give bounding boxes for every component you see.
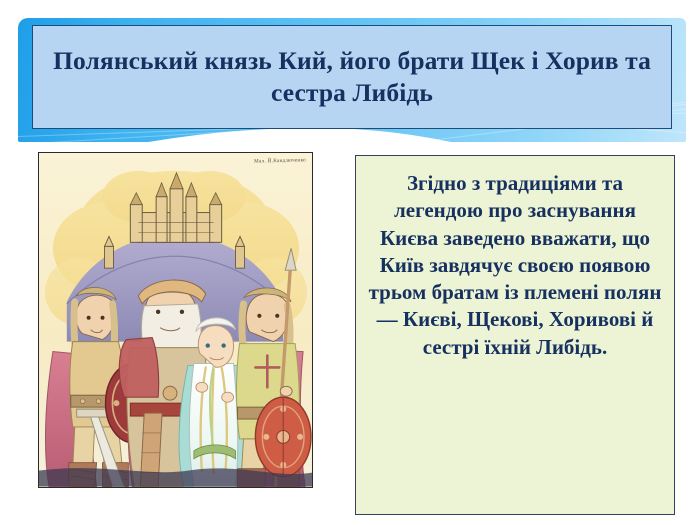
body-paragraph: Згідно з традиціями та легендою про засн…: [366, 170, 664, 361]
body-text-box: Згідно з традиціями та легендою про засн…: [355, 155, 675, 515]
slide-title-plate: Полянський князь Кий, його брати Щек і Х…: [32, 25, 672, 129]
page-title: Полянський князь Кий, його брати Щек і Х…: [33, 45, 671, 109]
slide-canvas: Полянський князь Кий, його брати Щек і Х…: [0, 0, 700, 525]
illustration-frame: Мал. Й.Кандзюченко: [38, 152, 313, 488]
illustration-image: [39, 153, 312, 487]
